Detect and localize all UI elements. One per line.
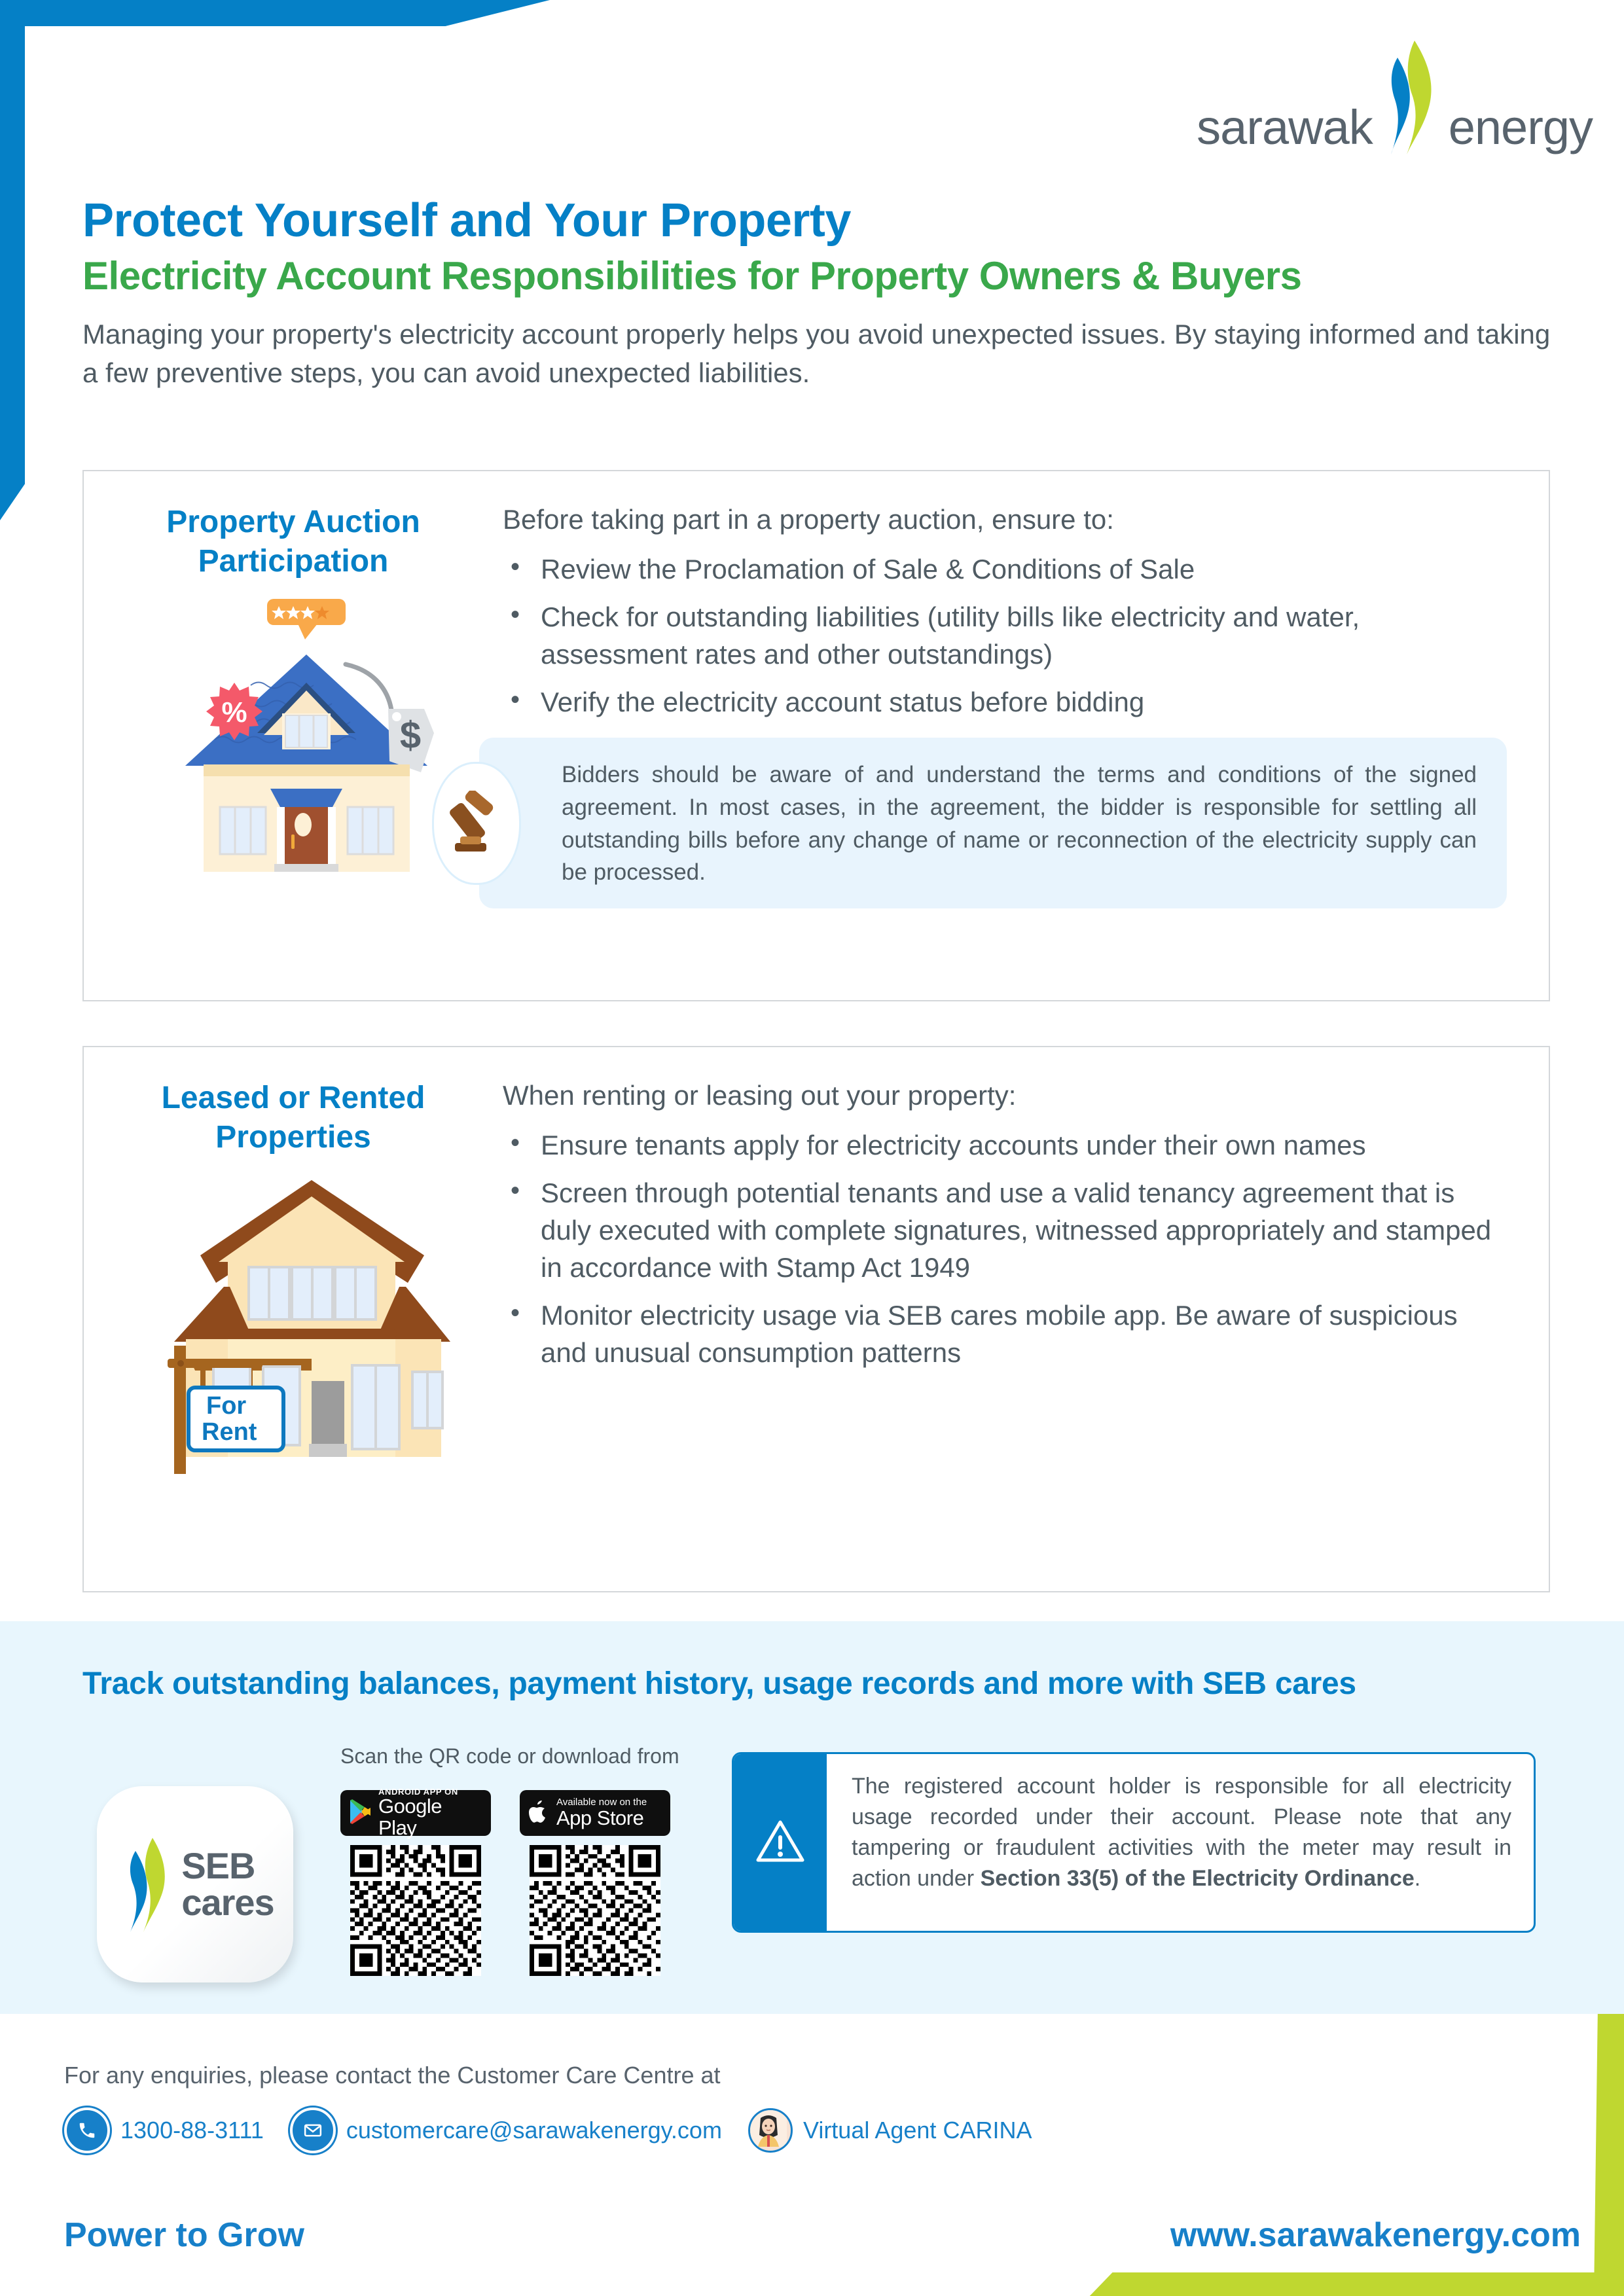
auction-section-heading: Property Auction Participation — [84, 503, 503, 581]
auction-text-column: Before taking part in a property auction… — [503, 471, 1549, 1000]
contact-virtual-agent[interactable]: Virtual Agent CARINA — [748, 2108, 1032, 2153]
svg-text:%: % — [221, 696, 247, 728]
contact-phone[interactable]: 1300-88-3111 — [64, 2108, 264, 2153]
rental-illustration-column: Leased or Rented Properties — [84, 1047, 503, 1591]
virtual-agent-label: Virtual Agent CARINA — [803, 2117, 1032, 2144]
flame-icon — [1374, 39, 1447, 156]
logo-word-sarawak: sarawak — [1197, 103, 1373, 156]
auction-note-text: Bidders should be aware of and understan… — [562, 759, 1477, 889]
tagline-power-to-grow: Power to Grow — [64, 2215, 304, 2255]
warning-icon-strip — [734, 1754, 827, 1931]
auction-bullet-list: Review the Proclamation of Sale & Condit… — [503, 550, 1507, 721]
logo-word-energy: energy — [1449, 103, 1593, 156]
warning-message: The registered account holder is respons… — [827, 1754, 1534, 1931]
top-blue-banner-shape — [0, 0, 550, 26]
house-for-rent-illustration: For Rent — [143, 1170, 483, 1484]
sarawak-energy-logo: sarawak energy — [1197, 38, 1593, 156]
rental-text-column: When renting or leasing out your propert… — [503, 1047, 1549, 1591]
rental-heading-line1: Leased or Rented — [162, 1081, 425, 1115]
warning-text-after: . — [1415, 1866, 1420, 1891]
seb-cares-band-title: Track outstanding balances, payment hist… — [82, 1666, 1356, 1702]
auction-note-box: Bidders should be aware of and understan… — [479, 738, 1507, 908]
page-title: Protect Yourself and Your Property — [82, 196, 1555, 246]
app-store-badge-texts: Available now on the App Store — [556, 1797, 647, 1829]
auction-bullet-2: Check for outstanding liabilities (utili… — [503, 598, 1507, 673]
house-for-auction-illustration: % $ — [146, 599, 473, 874]
google-play-main-text: Google Play — [378, 1796, 483, 1839]
svg-text:For: For — [206, 1392, 246, 1420]
auction-illustration-column: Property Auction Participation — [84, 471, 503, 1000]
app-store-qr-code — [530, 1845, 660, 1976]
page-subtitle: Electricity Account Responsibilities for… — [82, 255, 1555, 296]
contact-email[interactable]: customercare@sarawakenergy.com — [290, 2108, 722, 2153]
rental-lead-text: When renting or leasing out your propert… — [503, 1077, 1507, 1115]
svg-text:$: $ — [400, 714, 421, 757]
contact-row: 1300-88-3111 customercare@sarawakenergy.… — [64, 2108, 1032, 2153]
virtual-agent-avatar — [748, 2108, 793, 2153]
apple-icon — [528, 1798, 550, 1829]
rental-heading-line2: Properties — [215, 1120, 370, 1155]
rental-section-heading: Leased or Rented Properties — [84, 1079, 503, 1157]
google-play-icon — [348, 1799, 372, 1828]
phone-number-label: 1300-88-3111 — [120, 2117, 264, 2144]
envelope-icon — [290, 2108, 336, 2153]
section-card-property-auction: Property Auction Participation — [82, 470, 1550, 1001]
title-block: Protect Yourself and Your Property Elect… — [82, 196, 1555, 393]
svg-text:Rent: Rent — [202, 1418, 257, 1446]
rental-bullet-list: Ensure tenants apply for electricity acc… — [503, 1126, 1507, 1372]
google-play-badge[interactable]: ANDROID APP ON Google Play — [340, 1790, 491, 1836]
intro-paragraph: Managing your property's electricity acc… — [82, 315, 1552, 393]
google-play-column: ANDROID APP ON Google Play — [340, 1790, 491, 1976]
section-card-leased-rented: Leased or Rented Properties — [82, 1046, 1550, 1592]
seb-cares-app-icon: SEB cares — [97, 1786, 293, 1982]
auction-bullet-1: Review the Proclamation of Sale & Condit… — [503, 550, 1507, 588]
seb-cares-band: Track outstanding balances, payment hist… — [0, 1621, 1624, 2014]
warning-text-bold: Section 33(5) of the Electricity Ordinan… — [981, 1866, 1415, 1891]
app-store-badge[interactable]: Available now on the App Store — [520, 1790, 670, 1836]
website-url[interactable]: www.sarawakenergy.com — [1170, 2215, 1581, 2255]
rental-bullet-3: Monitor electricity usage via SEB cares … — [503, 1297, 1507, 1371]
auction-bullet-3: Verify the electricity account status be… — [503, 683, 1507, 721]
scan-qr-label: Scan the QR code or download from — [340, 1744, 679, 1768]
app-store-column: Available now on the App Store — [520, 1790, 670, 1976]
app-store-main-text: App Store — [556, 1808, 647, 1829]
poster-page: sarawak energy Protect Yourself and Your… — [0, 0, 1624, 2296]
left-blue-accent-shape — [0, 0, 25, 520]
account-holder-warning-box: The registered account holder is respons… — [732, 1752, 1536, 1933]
gavel-icon — [432, 762, 521, 885]
bottom-green-accent-shape — [0, 2272, 1624, 2296]
app-tile-line1: SEB — [181, 1848, 274, 1884]
phone-icon — [64, 2108, 110, 2153]
auction-lead-text: Before taking part in a property auction… — [503, 501, 1507, 539]
auction-heading-line2: Participation — [198, 544, 389, 579]
rental-bullet-1: Ensure tenants apply for electricity acc… — [503, 1126, 1507, 1164]
app-tile-line2: cares — [181, 1884, 274, 1921]
auction-note-wrapper: Bidders should be aware of and understan… — [479, 738, 1507, 908]
rental-bullet-2: Screen through potential tenants and use… — [503, 1174, 1507, 1286]
auction-heading-line1: Property Auction — [166, 505, 420, 539]
email-address-label: customercare@sarawakenergy.com — [346, 2117, 722, 2144]
warning-triangle-icon — [755, 1818, 805, 1867]
contact-lead-text: For any enquiries, please contact the Cu… — [64, 2062, 721, 2089]
google-play-qr-code — [350, 1845, 481, 1976]
google-play-badge-texts: ANDROID APP ON Google Play — [378, 1787, 483, 1839]
